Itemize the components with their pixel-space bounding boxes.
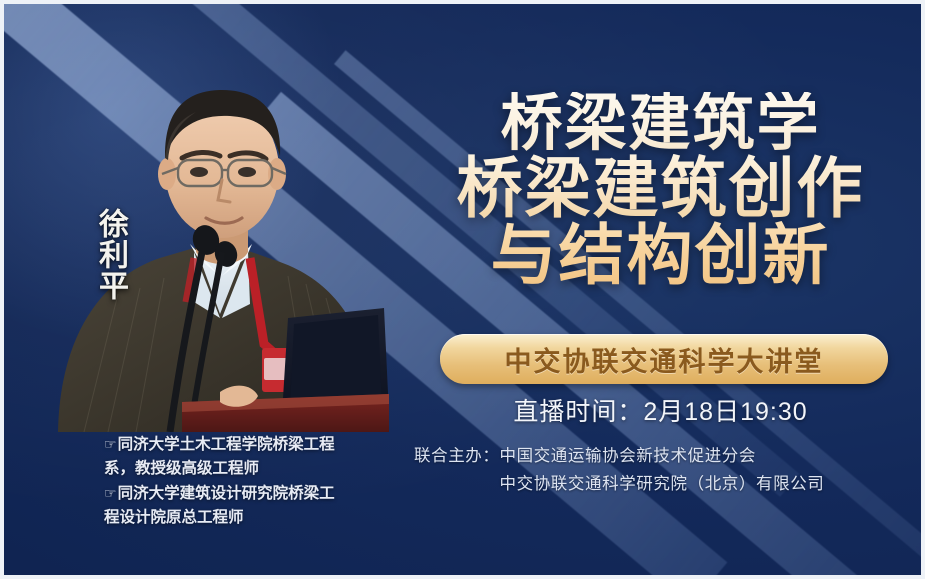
pointing-hand-icon: ☞	[104, 436, 117, 452]
organizer-line-1: 联合主办：中国交通运输协会新技术促进分会	[414, 442, 925, 470]
credential-line: ☞同济大学土木工程学院桥梁工程	[104, 432, 404, 457]
title-line-3: 与结构创新	[392, 221, 925, 290]
credential-line: ☞同济大学建筑设计研究院桥梁工	[104, 481, 404, 506]
credential-text: 同济大学建筑设计研究院桥梁工	[118, 485, 335, 502]
series-badge-label: 中交协联交通科学大讲堂	[505, 340, 824, 379]
credential-text: 同济大学土木工程学院桥梁工程	[118, 436, 335, 453]
series-badge: 中交协联交通科学大讲堂	[440, 334, 888, 384]
organizers-block: 联合主办：中国交通运输协会新技术促进分会 中交协联交通科学研究院（北京）有限公司	[414, 442, 925, 498]
speaker-credentials: ☞同济大学土木工程学院桥梁工程 系，教授级高级工程师 ☞同济大学建筑设计研究院桥…	[104, 432, 404, 530]
live-time: 直播时间：2月18日19:30	[392, 392, 925, 428]
credential-line: 程设计院原总工程师	[104, 506, 404, 530]
title-line-1: 桥梁建筑学	[392, 92, 925, 156]
pointing-hand-icon: ☞	[104, 485, 117, 501]
poster-right-column: 桥梁建筑学 桥梁建筑创作 与结构创新 中交协联交通科学大讲堂 直播时间：2月18…	[392, 4, 925, 579]
credential-text: 程设计院原总工程师	[104, 509, 244, 526]
organizer-line-2: 中交协联交通科学研究院（北京）有限公司	[414, 470, 925, 498]
webinar-poster: 徐利平 ☞同济大学土木工程学院桥梁工程 系，教授级高级工程师 ☞同济大学建筑设计…	[0, 0, 925, 579]
credential-line: 系，教授级高级工程师	[104, 457, 404, 481]
credential-text: 系，教授级高级工程师	[104, 460, 259, 477]
poster-title: 桥梁建筑学 桥梁建筑创作 与结构创新	[392, 92, 925, 290]
speaker-name: 徐利平	[88, 208, 128, 301]
title-line-2: 桥梁建筑创作	[392, 154, 925, 223]
